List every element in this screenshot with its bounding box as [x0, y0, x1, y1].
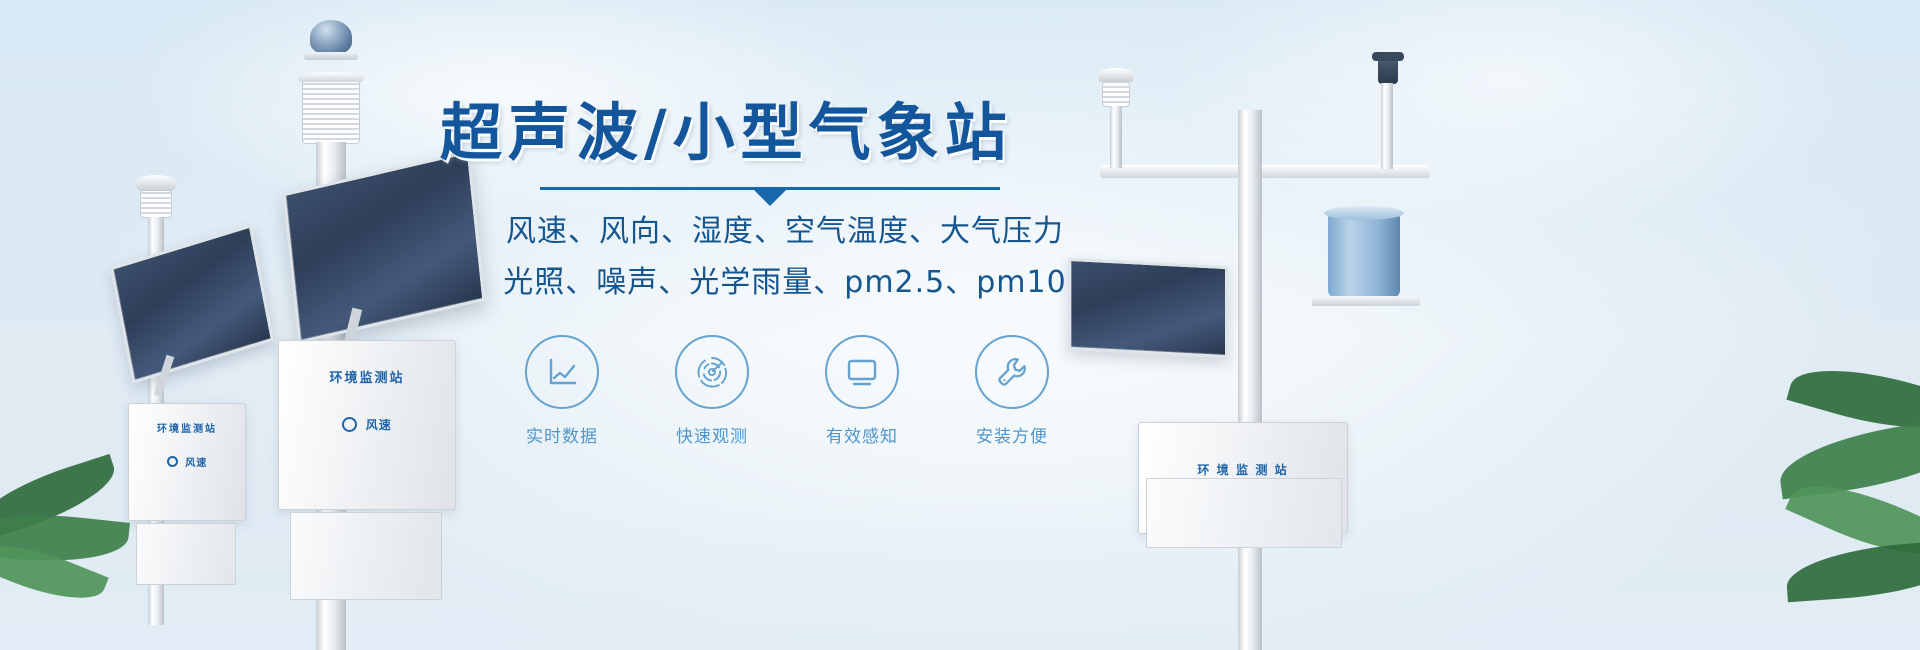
optical-rain-head	[1372, 52, 1404, 61]
enclosure-label-right: 环 境 监 测 站	[1139, 461, 1347, 478]
feature-label: 快速观测	[663, 422, 761, 447]
brand-text-center: 风速	[366, 418, 392, 432]
radiation-shield-center	[302, 80, 360, 144]
radar-target-icon	[692, 352, 732, 392]
line-chart-icon	[543, 353, 581, 391]
rain-bucket-right	[1328, 212, 1400, 298]
subtitle-line-1: 风速、风向、湿度、空气温度、大气压力	[440, 208, 1130, 257]
divider-triangle-icon	[754, 190, 786, 206]
feature-label: 实时数据	[513, 422, 611, 447]
feature-item-effective-sensing[interactable]: 有效感知	[813, 335, 911, 447]
leaf-cluster-right	[1690, 350, 1920, 630]
leaf-cluster-left	[0, 410, 180, 610]
shield-cap-center	[298, 72, 364, 82]
feature-list: 实时数据	[440, 335, 1130, 447]
sensor-post-right-arm	[1381, 83, 1393, 169]
title-divider	[540, 187, 1000, 190]
enclosure-label-center: 环境监测站	[279, 367, 455, 386]
feature-item-easy-installation[interactable]: 安装方便	[963, 335, 1061, 447]
mast-right	[1238, 110, 1262, 650]
feature-item-fast-observation[interactable]: 快速观测	[663, 335, 761, 447]
feature-icon-circle	[525, 335, 599, 409]
enclosure-brand-center: 风速	[279, 416, 455, 434]
feature-icon-circle	[975, 335, 1049, 409]
sensor-head-left	[136, 175, 176, 191]
dome-collar-center	[304, 52, 358, 60]
feature-label: 安装方便	[963, 422, 1061, 447]
feature-icon-circle	[825, 335, 899, 409]
sensor-stack-left	[140, 190, 172, 218]
wrench-icon	[992, 352, 1032, 392]
brand-text-left: 风速	[185, 458, 207, 469]
feature-item-realtime-data[interactable]: 实时数据	[513, 335, 611, 447]
solar-panel-left	[110, 224, 274, 384]
optical-rain-sensor	[1378, 58, 1398, 84]
page-title: 超声波/小型气象站	[440, 100, 1130, 165]
enclosure-lower-right	[1146, 478, 1342, 548]
dome-sensor-center	[310, 20, 352, 54]
monitor-icon	[842, 353, 882, 391]
enclosure-center: 环境监测站 风速	[278, 340, 456, 510]
leaf-icon	[1784, 540, 1920, 602]
rain-bucket-shelf	[1312, 296, 1420, 306]
feature-label: 有效感知	[813, 422, 911, 447]
enclosure-lower-center	[290, 512, 442, 600]
feature-icon-circle	[675, 335, 749, 409]
subtitle-line-2: 光照、噪声、光学雨量、pm2.5、pm10	[440, 259, 1130, 308]
rain-bucket-rim	[1324, 206, 1404, 220]
weather-station-banner: 环境监测站 风速 环境监测站 风速	[0, 0, 1920, 650]
leaf-icon	[1775, 417, 1920, 500]
banner-content: 超声波/小型气象站 风速、风向、湿度、空气温度、大气压力 光照、噪声、光学雨量、…	[440, 100, 1130, 447]
ultrasonic-wind-sensor	[1098, 68, 1134, 82]
